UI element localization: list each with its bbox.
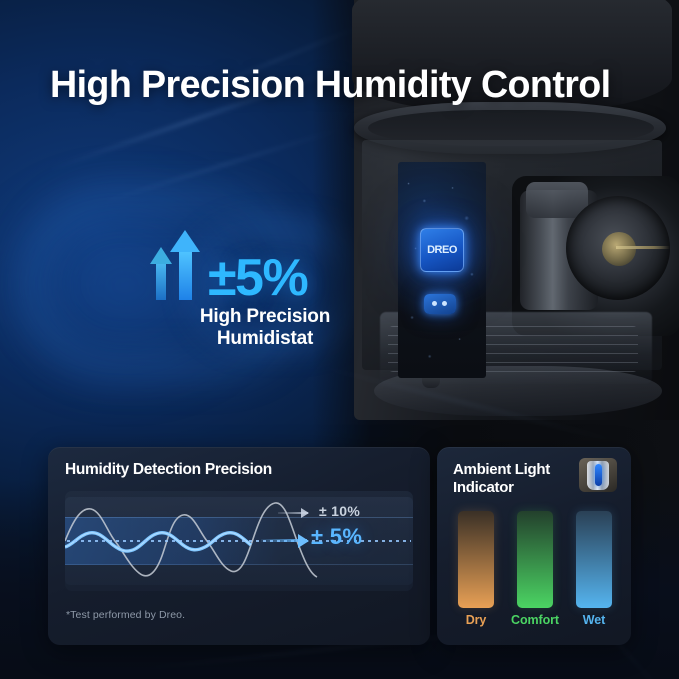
- callout-value: ±5%: [208, 254, 307, 304]
- precision-waveform-chart: ± 10% ± 5%: [65, 491, 413, 591]
- dreo-chip-label: DREO: [427, 244, 457, 256]
- card-footnote: *Test performed by Dreo.: [66, 609, 185, 621]
- tolerance-label-outer: ± 10%: [319, 503, 360, 519]
- ambient-bar: [517, 511, 553, 608]
- arrow-up-large-icon: [170, 230, 200, 300]
- callout-subtitle: High Precision Humidistat: [150, 306, 350, 351]
- arrow-right-grey-icon: [278, 512, 308, 514]
- card-title-ambient: Ambient Light Indicator: [453, 461, 563, 498]
- ambient-bar-label: Dry: [466, 613, 487, 627]
- arrow-right-blue-icon: [261, 539, 307, 542]
- callout-arrows: [150, 208, 206, 300]
- callout-subtitle-line1: High Precision: [180, 306, 350, 328]
- ambient-bar-column: Comfort: [514, 511, 556, 631]
- card-title-ambient-line1: Ambient Light: [453, 461, 563, 479]
- ambient-bar-column: Dry: [455, 511, 497, 631]
- product-cutaway-image: DREO: [344, 0, 679, 420]
- callout-subtitle-line2: Humidistat: [180, 328, 350, 350]
- ambient-bar: [576, 511, 612, 608]
- page-title: High Precision Humidity Control: [50, 64, 611, 107]
- humidifier-thumbnail-icon: [579, 458, 617, 492]
- thumbnail-light-glow: [595, 464, 602, 486]
- ambient-bar-label: Comfort: [511, 613, 559, 627]
- tolerance-label-inner: ± 5%: [311, 524, 362, 550]
- humidity-precision-card: Humidity Detection Precision ± 10% ± 5% …: [48, 447, 430, 645]
- ambient-bar-label: Wet: [583, 613, 605, 627]
- ambient-bar-column: Wet: [573, 511, 615, 631]
- infographic-canvas: DREO High Precision Humidity Control ±5%…: [0, 0, 679, 679]
- fan-hub: [602, 232, 636, 266]
- dreo-chip: DREO: [420, 228, 464, 272]
- arrow-up-small-icon: [150, 247, 172, 300]
- ambient-light-bars: DryComfortWet: [455, 511, 615, 631]
- card-title-precision: Humidity Detection Precision: [65, 461, 272, 479]
- sensor-chip-icon: [424, 294, 456, 314]
- ambient-light-card: Ambient Light Indicator DryComfortWet: [437, 447, 631, 645]
- precision-callout: ±5% High Precision Humidistat: [150, 208, 350, 351]
- fan-shaft: [616, 246, 670, 249]
- card-title-ambient-line2: Indicator: [453, 479, 563, 497]
- ambient-bar: [458, 511, 494, 608]
